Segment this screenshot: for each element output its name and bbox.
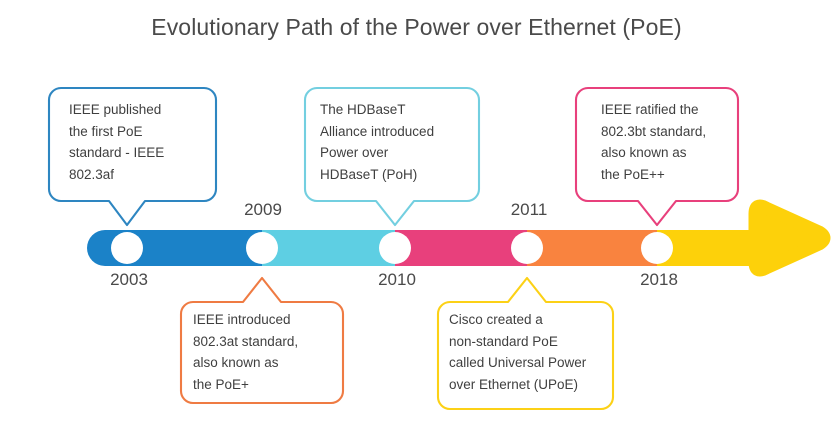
- timeline-node-2018[interactable]: [641, 232, 673, 264]
- callout-text-2018: IEEE ratified the 802.3bt standard, also…: [601, 99, 741, 185]
- callout-text-2003: IEEE published the first PoE standard - …: [69, 99, 209, 185]
- year-label-2003: 2003: [110, 270, 148, 290]
- timeline-arrow-head: [755, 206, 824, 270]
- timeline-segment-2009: [262, 230, 395, 266]
- timeline-node-2011[interactable]: [511, 232, 543, 264]
- callout-text-2011: Cisco created a non-standard PoE called …: [449, 309, 609, 395]
- timeline-node-2003[interactable]: [111, 232, 143, 264]
- timeline-segment-2010: [395, 230, 527, 266]
- year-label-2018: 2018: [640, 270, 678, 290]
- timeline-segment-2011: [527, 230, 657, 266]
- timeline-node-2009[interactable]: [246, 232, 278, 264]
- infographic-canvas: Evolutionary Path of the Power over Ethe…: [0, 0, 833, 438]
- timeline-node-2010[interactable]: [379, 232, 411, 264]
- year-label-2009: 2009: [244, 200, 282, 220]
- year-label-2011: 2011: [511, 200, 548, 220]
- callout-text-2009: IEEE introduced 802.3at standard, also k…: [193, 309, 338, 395]
- year-label-2010: 2010: [378, 270, 416, 290]
- timeline-bar: [87, 206, 824, 270]
- timeline-graphic: [0, 0, 833, 438]
- callout-text-2010: The HDBaseT Alliance introduced Power ov…: [320, 99, 475, 185]
